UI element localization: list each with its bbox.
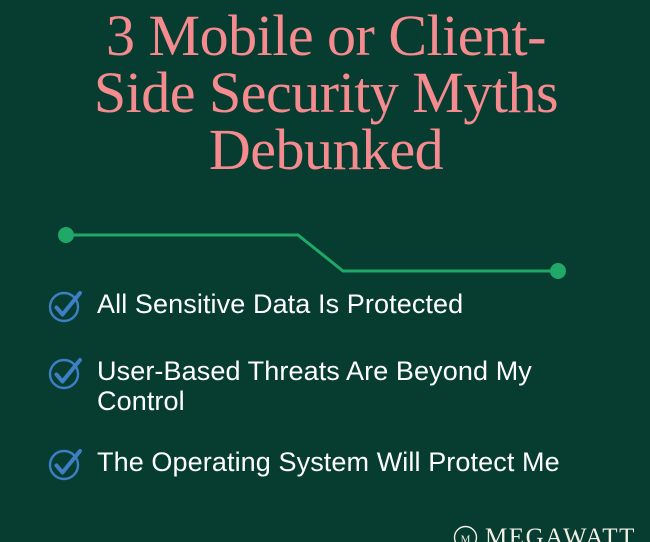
list-item: All Sensitive Data Is Protected <box>46 288 626 325</box>
check-circle-icon <box>46 285 86 325</box>
infographic-poster: 3 Mobile or Client- Side Security Myths … <box>0 0 650 542</box>
page-title: 3 Mobile or Client- Side Security Myths … <box>34 8 618 178</box>
check-circle-icon <box>46 352 86 392</box>
divider-end-dot <box>550 263 566 279</box>
myth-label: User-Based Threats Are Beyond My Control <box>97 355 609 416</box>
myth-label: All Sensitive Data Is Protected <box>97 288 463 319</box>
brand-logo: M MEGAWATT <box>453 525 636 542</box>
title-line-3: Debunked <box>34 122 618 179</box>
title-line-2: Side Security Myths <box>34 65 618 122</box>
stepped-divider <box>48 215 608 295</box>
title-line-1: 3 Mobile or Client- <box>34 8 618 65</box>
divider-start-dot <box>58 227 74 243</box>
stepped-line-icon <box>48 215 608 295</box>
svg-text:M: M <box>461 534 471 542</box>
list-item: User-Based Threats Are Beyond My Control <box>46 355 626 416</box>
m-monogram-circle-icon: M <box>453 525 478 542</box>
myth-label: The Operating System Will Protect Me <box>97 446 560 477</box>
brand-name: MEGAWATT <box>485 525 636 542</box>
check-circle-icon <box>46 443 86 483</box>
myth-list: All Sensitive Data Is Protected User-Bas… <box>46 288 626 513</box>
list-item: The Operating System Will Protect Me <box>46 446 626 483</box>
